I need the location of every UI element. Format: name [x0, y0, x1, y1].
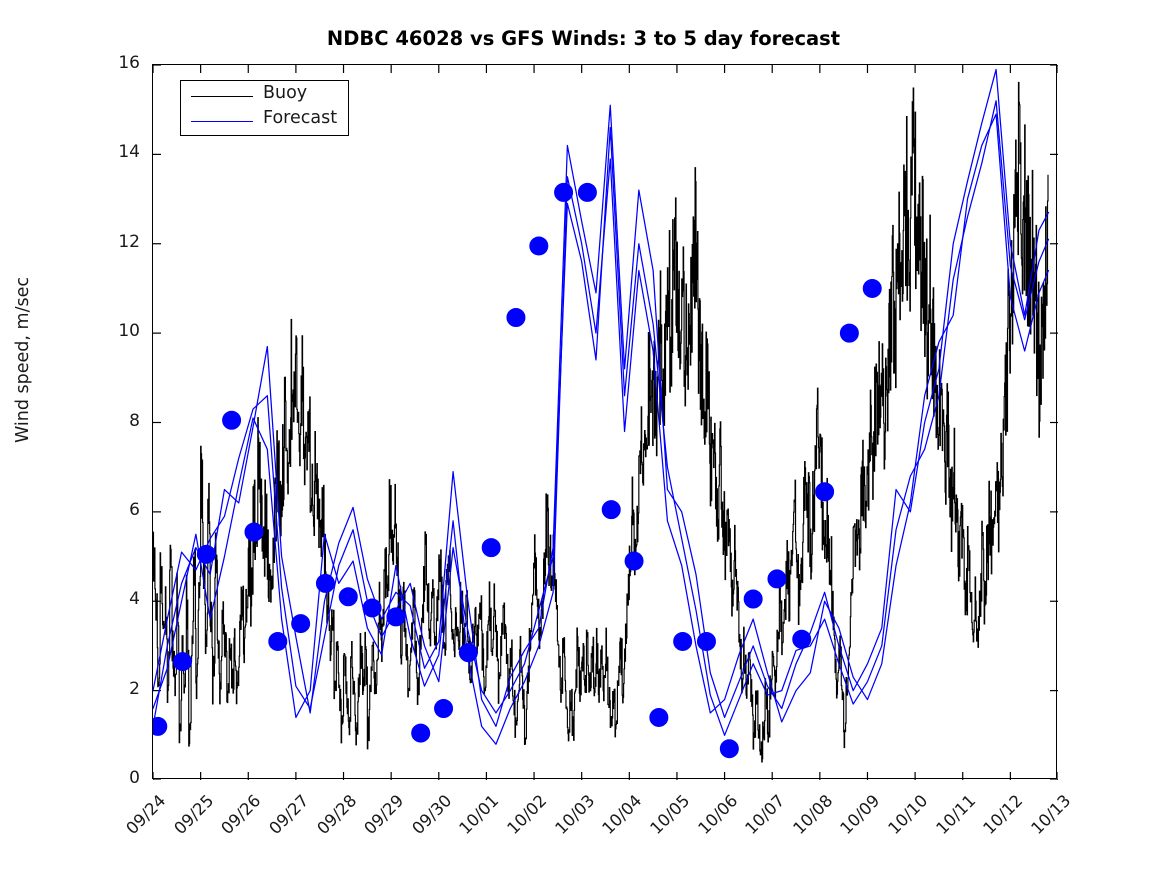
forecast-marker — [316, 574, 334, 592]
legend-swatch-forecast — [191, 121, 253, 122]
x-tick-label: 10/02 — [493, 791, 550, 848]
forecast-marker — [339, 588, 357, 606]
x-tick-label: 09/29 — [350, 791, 407, 848]
forecast-marker — [197, 545, 215, 563]
forecast-marker — [697, 632, 715, 650]
forecast-marker — [840, 324, 858, 342]
forecast-marker — [174, 653, 192, 671]
forecast-marker — [153, 717, 167, 735]
x-tick-label: 09/27 — [255, 791, 312, 848]
legend-label-buoy: Buoy — [263, 83, 307, 103]
forecast-marker — [459, 644, 477, 662]
forecast-marker — [674, 632, 692, 650]
forecast-marker — [223, 411, 241, 429]
x-tick-label: 10/13 — [1017, 791, 1074, 848]
forecast-marker — [863, 279, 881, 297]
x-tick-label: 09/30 — [398, 791, 455, 848]
x-tick-label: 09/26 — [207, 791, 264, 848]
x-tick-label: 09/25 — [160, 791, 217, 848]
forecast-marker — [744, 590, 762, 608]
forecast-marker — [292, 615, 310, 633]
forecast-marker — [507, 308, 525, 326]
x-tick-label: 10/06 — [684, 791, 741, 848]
x-tick-label: 10/03 — [541, 791, 598, 848]
forecast-marker — [387, 608, 405, 626]
forecast-marker — [625, 552, 643, 570]
forecast-marker — [530, 237, 548, 255]
plot-area — [152, 64, 1057, 779]
forecast-marker — [435, 700, 453, 718]
forecast-marker — [482, 539, 500, 557]
forecast-marker — [602, 501, 620, 519]
x-tick-label: 10/09 — [827, 791, 884, 848]
x-tick-label: 09/24 — [112, 791, 169, 848]
forecast-marker — [363, 599, 381, 617]
legend-swatch-buoy — [191, 96, 253, 97]
plot-canvas — [153, 65, 1058, 780]
forecast-marker — [768, 570, 786, 588]
x-tick-label: 10/10 — [874, 791, 931, 848]
forecast-marker — [578, 183, 596, 201]
x-tick-label: 10/05 — [636, 791, 693, 848]
x-tick-label: 10/04 — [588, 791, 645, 848]
forecast-marker — [650, 708, 668, 726]
x-tick-label: 10/01 — [446, 791, 503, 848]
legend-item-forecast: Forecast — [181, 109, 350, 135]
x-tick-label: 10/12 — [970, 791, 1027, 848]
chart-legend: Buoy Forecast — [180, 80, 349, 136]
legend-item-buoy: Buoy — [181, 84, 350, 110]
forecast-marker — [269, 632, 287, 650]
forecast-marker — [720, 740, 738, 758]
x-tick-label: 10/11 — [922, 791, 979, 848]
legend-label-forecast: Forecast — [263, 108, 337, 128]
x-tick-label: 09/28 — [303, 791, 360, 848]
forecast-marker — [245, 523, 263, 541]
forecast-marker — [412, 724, 430, 742]
forecast-marker — [793, 630, 811, 648]
x-tick-label: 10/08 — [779, 791, 836, 848]
forecast-marker — [555, 183, 573, 201]
x-tick-label: 10/07 — [731, 791, 788, 848]
chart-figure: NDBC 46028 vs GFS Winds: 3 to 5 day fore… — [0, 0, 1167, 875]
forecast-marker — [816, 483, 834, 501]
